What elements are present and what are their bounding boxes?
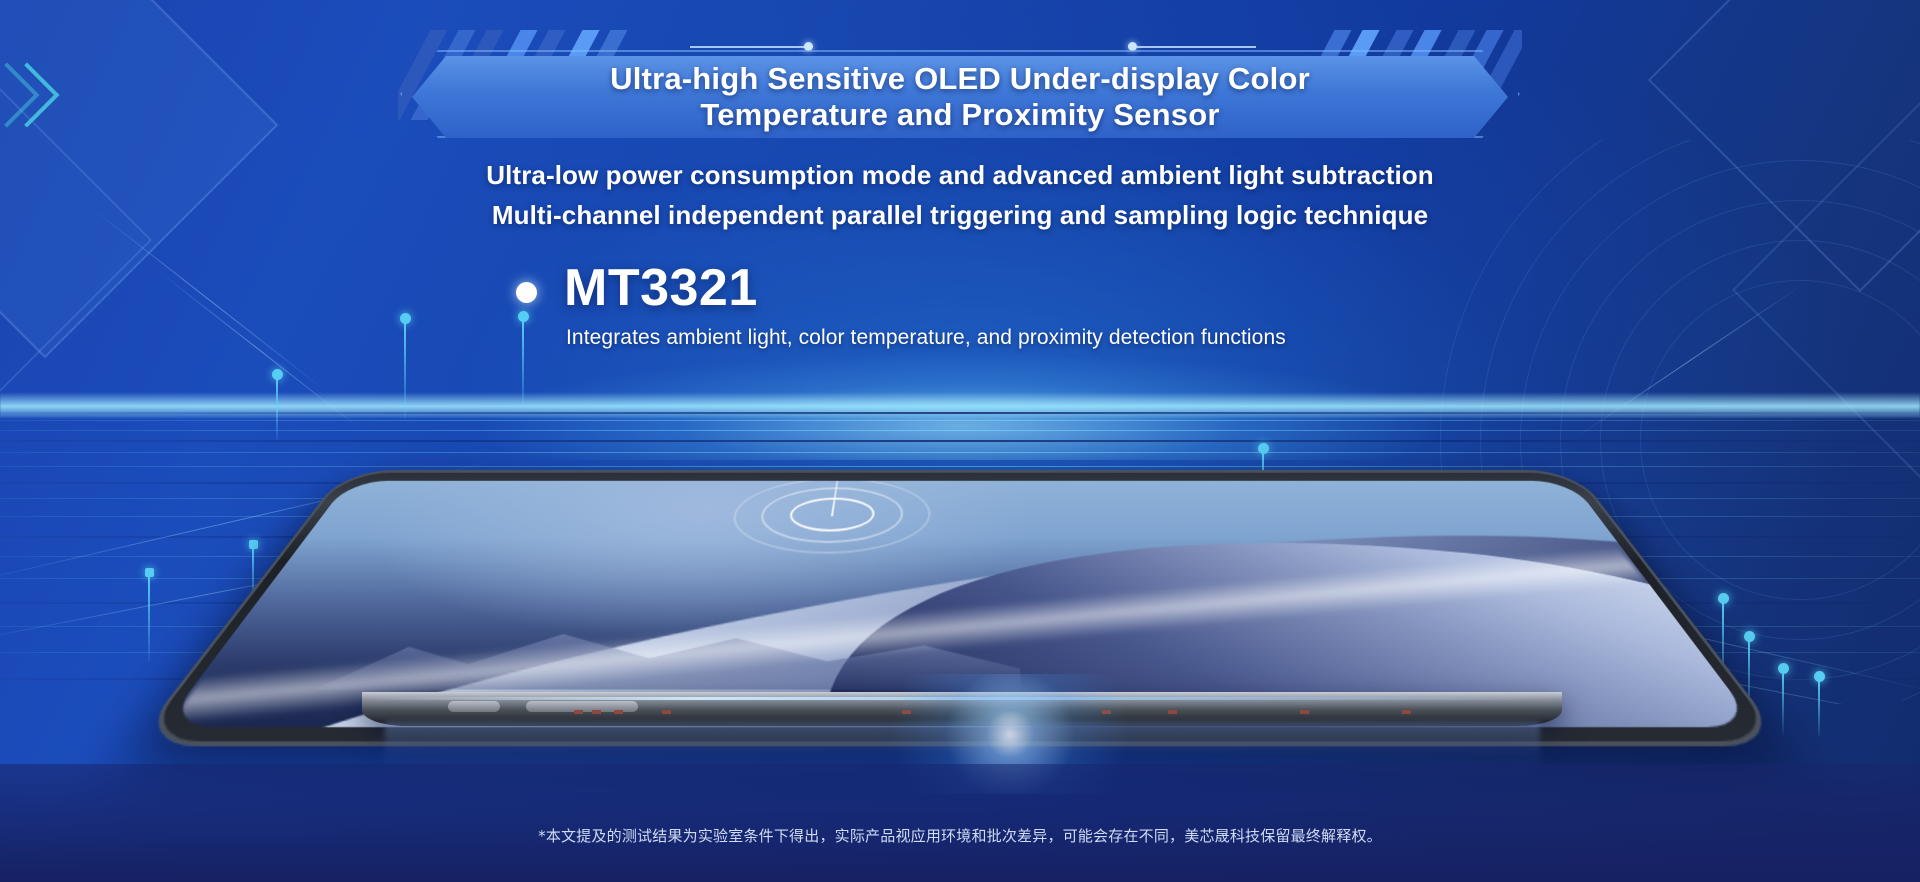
promo-banner: Ultra-high Sensitive OLED Under-display …	[0, 0, 1920, 882]
speaker-vent	[1402, 710, 1411, 714]
subtitle-line-1: Ultra-low power consumption mode and adv…	[0, 160, 1920, 191]
connector-dot-left	[804, 42, 813, 51]
device-render	[290, 470, 1630, 800]
subtitle-line-2: Multi-channel independent parallel trigg…	[0, 200, 1920, 231]
product-name: MT3321	[564, 258, 758, 318]
page-title: Ultra-high Sensitive OLED Under-display …	[584, 61, 1336, 133]
disclaimer-text: *本文提及的测试结果为实验室条件下得出，实际产品视应用环境和批次差异，可能会存在…	[0, 825, 1920, 846]
title-line-2: Temperature and Proximity Sensor	[610, 97, 1310, 133]
speaker-vent	[574, 710, 583, 714]
footer-bar	[0, 764, 1920, 882]
bullet-dot-icon	[516, 282, 537, 303]
speaker-vent	[592, 710, 601, 714]
banner-plate: Ultra-high Sensitive OLED Under-display …	[412, 56, 1508, 138]
title-line-1: Ultra-high Sensitive OLED Under-display …	[610, 61, 1310, 97]
speaker-vent	[1300, 710, 1309, 714]
side-button-small	[448, 701, 500, 712]
product-description: Integrates ambient light, color temperat…	[566, 326, 1286, 350]
speaker-vent	[662, 710, 671, 714]
header-banner: Ultra-high Sensitive OLED Under-display …	[0, 24, 1920, 144]
speaker-vent	[614, 710, 623, 714]
